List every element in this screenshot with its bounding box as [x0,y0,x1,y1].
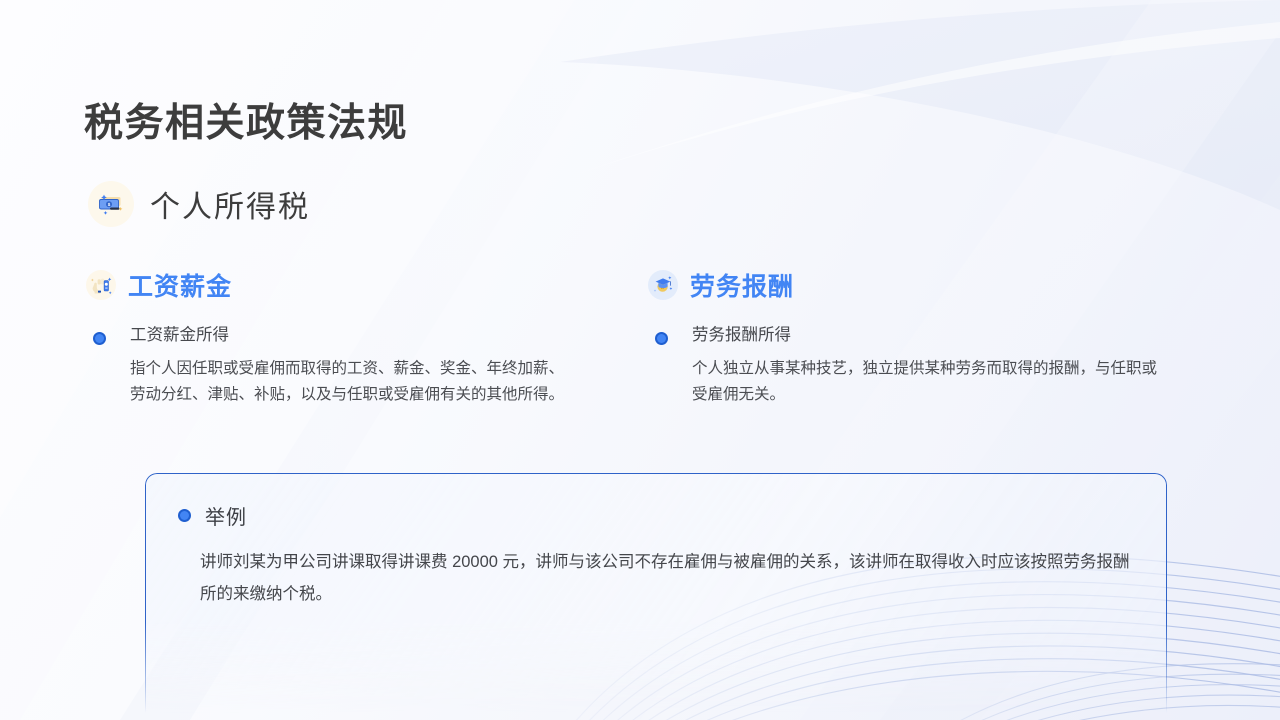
column-service-income: B 劳务报酬 劳务报酬所得 个人独立从事某种技艺，独立提供某种劳务而取得的报酬，… [648,266,1148,409]
bullet-label: 劳务报酬所得 [692,326,791,346]
bullet-description: 指个人因任职或受雇佣而取得的工资、薪金、奖金、年终加薪、劳动分红、津贴、补贴，以… [130,356,570,409]
column-heading-row: 工资薪金 [86,266,586,304]
subtitle-row: $ 个人所得税 [88,181,310,227]
bullet-description: 个人独立从事某种技艺，独立提供某种劳务而取得的报酬，与任职或受雇佣无关。 [692,356,1157,409]
salary-hand-icon [86,270,116,300]
column-heading-text: 工资薪金 [128,267,232,303]
example-body-text: 讲师刘某为甲公司讲课取得讲课费 20000 元，讲师与该公司不存在雇佣与被雇佣的… [200,547,1140,610]
example-heading-row: 举例 [178,501,247,530]
bullet-dot-icon [655,332,668,345]
column-salary: 工资薪金 工资薪金所得 指个人因任职或受雇佣而取得的工资、薪金、奖金、年终加薪、… [86,266,586,409]
banknote-icon-svg: $ [95,188,127,220]
column-heading-text: 劳务报酬 [690,267,794,303]
bullet-dot-icon [93,332,106,345]
subtitle-text: 个人所得税 [150,182,310,226]
salary-hand-icon-svg [89,273,113,297]
bullet-label: 工资薪金所得 [130,326,229,346]
svg-text:$: $ [108,202,111,207]
column-heading-row: B 劳务报酬 [648,266,1148,304]
graduation-coin-icon: B [648,270,678,300]
bullet-item: 劳务报酬所得 [648,326,1148,346]
page-title: 税务相关政策法规 [84,92,408,148]
slide-canvas: 税务相关政策法规 $ 个人所得税 [0,0,1280,720]
bullet-dot-icon [178,509,191,522]
example-heading-text: 举例 [205,501,247,530]
example-box-content: 举例 讲师刘某为甲公司讲课取得讲课费 20000 元，讲师与该公司不存在雇佣与被… [145,473,1167,713]
graduation-coin-icon-svg: B [651,273,675,297]
banknote-icon: $ [88,181,134,227]
bullet-item: 工资薪金所得 [86,326,586,346]
